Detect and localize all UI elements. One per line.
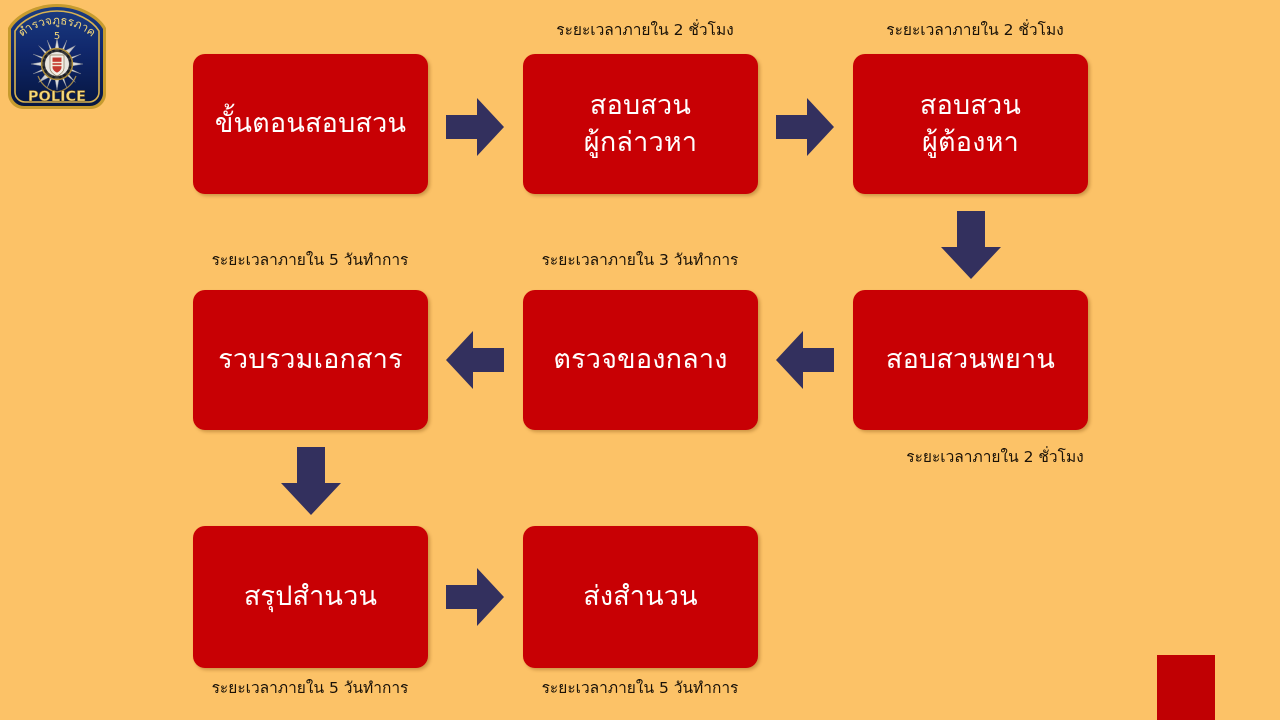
- process-box-submit-case[interactable]: ส่งสำนวน: [523, 526, 758, 668]
- arrow-left-step4-to-step5: [776, 331, 834, 389]
- arrow-down-step3-to-step4: [941, 211, 1001, 279]
- arrow-right-step7-to-step8: [446, 568, 504, 626]
- caption-step-2: ระยะเวลาภายใน 2 ชั่วโมง: [520, 21, 770, 40]
- process-box-summarize-case[interactable]: สรุปสำนวน: [193, 526, 428, 668]
- caption-step-4: ระยะเวลาภายใน 2 ชั่วโมง: [870, 448, 1120, 467]
- caption-step-8: ระยะเวลาภายใน 5 วันทำการ: [515, 679, 765, 698]
- process-box-interrogate-accuser[interactable]: สอบสวน ผู้กล่าวหา: [523, 54, 758, 194]
- process-box-investigation-steps[interactable]: ขั้นตอนสอบสวน: [193, 54, 428, 194]
- process-box-interrogate-suspect[interactable]: สอบสวน ผู้ต้องหา: [853, 54, 1088, 194]
- caption-step-7: ระยะเวลาภายใน 5 วันทำการ: [185, 679, 435, 698]
- process-box-interrogate-witnesses[interactable]: สอบสวนพยาน: [853, 290, 1088, 430]
- flowchart-slide: ตำรวจภูธรภาค 5: [0, 0, 1280, 720]
- caption-step-6: ระยะเวลาภายใน 5 วันทำการ: [185, 251, 435, 270]
- badge-starburst: [31, 38, 83, 90]
- police-badge-logo: ตำรวจภูธรภาค 5: [2, 2, 112, 114]
- caption-step-3: ระยะเวลาภายใน 2 ชั่วโมง: [850, 21, 1100, 40]
- caption-step-5: ระยะเวลาภายใน 3 วันทำการ: [515, 251, 765, 270]
- badge-bottom-text: POLICE: [28, 89, 86, 105]
- arrow-right-step1-to-step2: [446, 98, 504, 156]
- arrow-down-step6-to-step7: [281, 447, 341, 515]
- corner-accent-block: [1157, 655, 1215, 720]
- process-box-collect-documents[interactable]: รวบรวมเอกสาร: [193, 290, 428, 430]
- arrow-left-step5-to-step6: [446, 331, 504, 389]
- arrow-right-step2-to-step3: [776, 98, 834, 156]
- process-box-examine-evidence[interactable]: ตรวจของกลาง: [523, 290, 758, 430]
